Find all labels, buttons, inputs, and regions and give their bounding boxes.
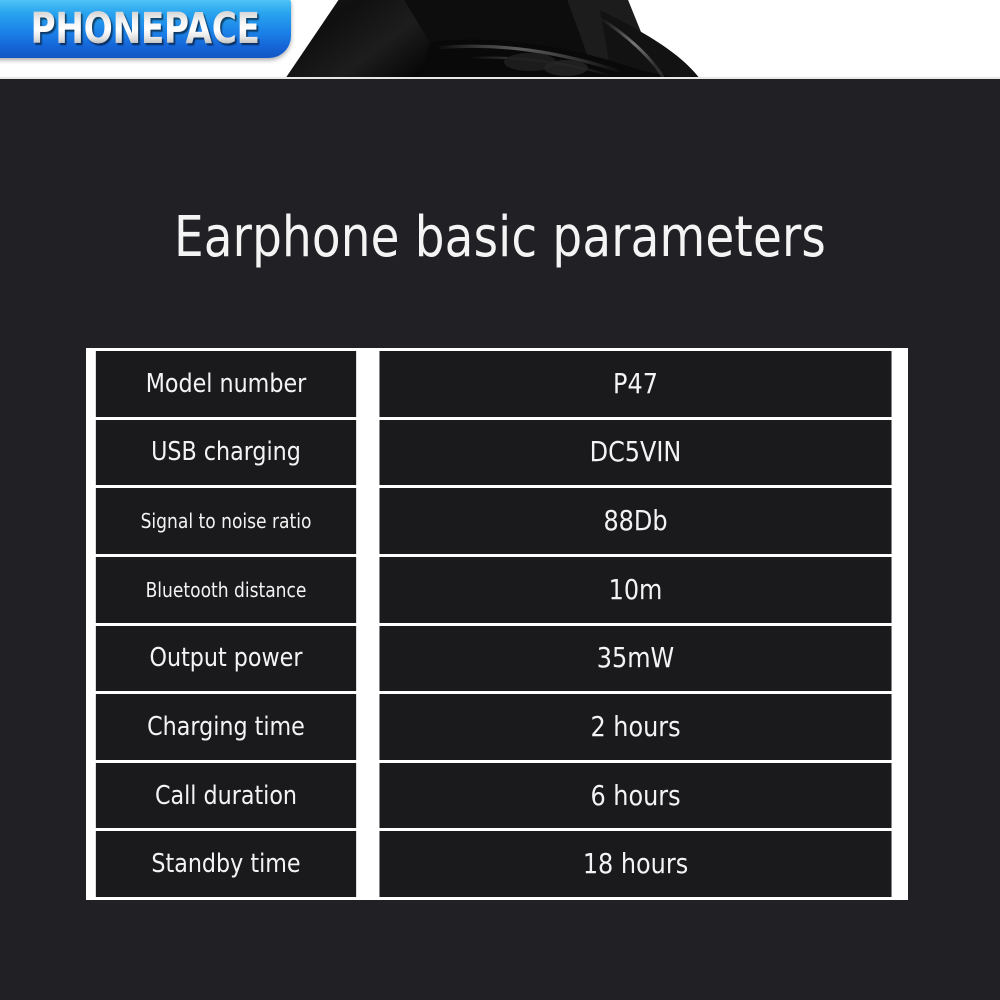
spec-value-cell: 18 hours — [379, 831, 891, 897]
brand-logo-label: PHONEPACE — [17, 8, 260, 50]
spec-label-cell: Output power — [96, 626, 356, 692]
table-row: Standby time18 hours — [89, 831, 905, 897]
spec-value-cell: 10m — [379, 557, 891, 623]
spec-label-cell: Call duration — [96, 763, 356, 829]
spec-table: Model numberP47USB chargingDC5VINSignal … — [86, 348, 908, 900]
spec-label-cell: Signal to noise ratio — [96, 488, 356, 554]
table-row: Charging time2 hours — [89, 694, 905, 760]
table-row: Signal to noise ratio88Db — [89, 488, 905, 554]
spec-label-cell: Model number — [96, 351, 356, 417]
table-row: USB chargingDC5VIN — [89, 420, 905, 486]
spec-value-cell: 88Db — [379, 488, 891, 554]
spec-value-cell: P47 — [379, 351, 891, 417]
spec-label-cell: USB charging — [96, 420, 356, 486]
brand-logo[interactable]: PHONEPACE — [0, 0, 291, 58]
spec-label-cell: Charging time — [96, 694, 356, 760]
table-row: Bluetooth distance10m — [89, 557, 905, 623]
spec-value-cell: 2 hours — [379, 694, 891, 760]
spec-value-cell: 6 hours — [379, 763, 891, 829]
spec-label-cell: Standby time — [96, 831, 356, 897]
spec-value-cell: 35mW — [379, 626, 891, 692]
page-title: Earphone basic parameters — [35, 207, 965, 269]
table-row: Output power35mW — [89, 626, 905, 692]
table-row: Call duration6 hours — [89, 763, 905, 829]
spec-label-cell: Bluetooth distance — [96, 557, 356, 623]
spec-value-cell: DC5VIN — [379, 420, 891, 486]
table-row: Model numberP47 — [89, 351, 905, 417]
